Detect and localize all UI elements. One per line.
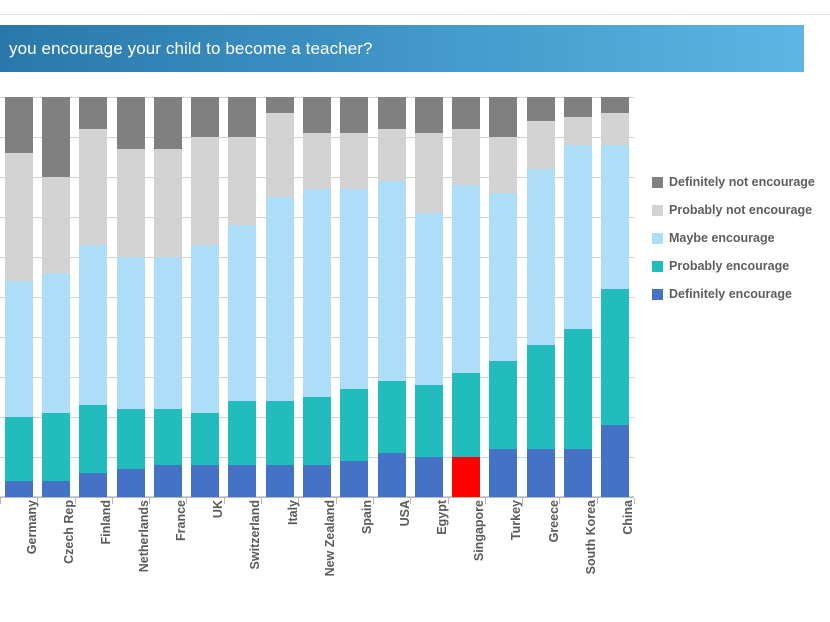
bar-segment [452, 185, 480, 373]
category-label-uk: UK [211, 500, 225, 518]
slide-canvas: you encourage your child to become a tea… [0, 0, 830, 622]
bar-segment [5, 153, 33, 281]
bar-netherlands[interactable] [117, 97, 145, 497]
bar-segment [42, 413, 70, 481]
bar-segment [117, 257, 145, 409]
bar-segment [5, 481, 33, 497]
bar-segment [601, 425, 629, 497]
bar-south-korea[interactable] [564, 97, 592, 497]
bar-switzerland[interactable] [228, 97, 256, 497]
bar-segment [340, 133, 368, 189]
category-label-singapore: Singapore [472, 500, 486, 561]
category-label-spain: Spain [360, 500, 374, 534]
bar-segment [564, 97, 592, 117]
legend-item-label: Definitely not encourage [669, 175, 815, 189]
category-label-greece: Greece [547, 500, 561, 542]
category-label-switzerland: Switzerland [248, 500, 262, 569]
bar-segment [228, 225, 256, 401]
chart-legend: Definitely not encourageProbably not enc… [652, 170, 830, 310]
bar-segment [527, 449, 555, 497]
bar-segment [79, 129, 107, 245]
legend-item-label: Definitely encourage [669, 287, 792, 301]
bar-segment [601, 97, 629, 113]
bar-segment [228, 465, 256, 497]
category-label-south-korea: South Korea [584, 500, 598, 574]
bar-segment [415, 457, 443, 497]
bar-segment [154, 97, 182, 149]
legend-item-label: Probably not encourage [669, 203, 812, 217]
bar-segment [415, 385, 443, 457]
bar-segment [79, 245, 107, 405]
bar-segment [527, 345, 555, 449]
bar-segment [452, 129, 480, 185]
bar-segment [117, 469, 145, 497]
bar-segment [378, 453, 406, 497]
bar-usa[interactable] [378, 97, 406, 497]
bar-segment [5, 97, 33, 153]
chart-container: GermanyCzech RepFinlandNetherlandsFrance… [0, 82, 830, 622]
bar-segment [154, 257, 182, 409]
bar-segment [527, 97, 555, 121]
legend-item[interactable]: Probably encourage [652, 254, 830, 278]
plot-area [0, 97, 634, 497]
bar-segment [191, 413, 219, 465]
bar-segment [266, 113, 294, 197]
bar-segment [191, 137, 219, 245]
bar-uk[interactable] [191, 97, 219, 497]
bar-segment [228, 401, 256, 465]
bar-segment [42, 481, 70, 497]
top-divider [0, 0, 830, 15]
legend-swatch-icon [652, 289, 663, 300]
bar-segment [527, 169, 555, 345]
bar-singapore[interactable] [452, 97, 480, 497]
bar-segment [303, 133, 331, 189]
bar-segment [415, 213, 443, 385]
legend-swatch-icon [652, 261, 663, 272]
bar-new-zealand[interactable] [303, 97, 331, 497]
bar-finland[interactable] [79, 97, 107, 497]
legend-item[interactable]: Definitely not encourage [652, 170, 830, 194]
bar-segment [601, 145, 629, 289]
bar-france[interactable] [154, 97, 182, 497]
legend-item[interactable]: Probably not encourage [652, 198, 830, 222]
bar-segment [79, 405, 107, 473]
bar-segment [117, 149, 145, 257]
category-label-egypt: Egypt [435, 500, 449, 535]
bar-segment [489, 449, 517, 497]
bar-segment [191, 97, 219, 137]
bar-segment [266, 197, 294, 401]
bar-segment [303, 189, 331, 397]
title-banner: you encourage your child to become a tea… [0, 25, 804, 72]
category-label-czech-rep: Czech Rep [62, 500, 76, 564]
category-label-france: France [174, 500, 188, 541]
bar-segment [452, 97, 480, 129]
bar-segment [340, 461, 368, 497]
bar-segment [154, 149, 182, 257]
bar-segment [378, 97, 406, 129]
bar-turkey[interactable] [489, 97, 517, 497]
bar-segment [489, 361, 517, 449]
bar-segment [266, 97, 294, 113]
bar-series-group [0, 97, 634, 497]
bar-segment [303, 397, 331, 465]
legend-item-label: Maybe encourage [669, 231, 775, 245]
bar-segment [452, 457, 480, 497]
bar-segment [340, 97, 368, 133]
bar-segment [79, 97, 107, 129]
bar-segment [564, 117, 592, 145]
bar-segment [601, 289, 629, 425]
bar-segment [489, 137, 517, 193]
bar-spain[interactable] [340, 97, 368, 497]
bar-greece[interactable] [527, 97, 555, 497]
bar-segment [415, 97, 443, 133]
bar-segment [42, 97, 70, 177]
bar-segment [340, 389, 368, 461]
bar-segment [489, 193, 517, 361]
bar-segment [117, 409, 145, 469]
bar-egypt[interactable] [415, 97, 443, 497]
bar-segment [266, 401, 294, 465]
bar-china[interactable] [601, 97, 629, 497]
legend-swatch-icon [652, 233, 663, 244]
legend-item-label: Probably encourage [669, 259, 789, 273]
category-label-netherlands: Netherlands [137, 500, 151, 572]
bar-segment [527, 121, 555, 169]
bar-segment [5, 417, 33, 481]
bar-segment [564, 145, 592, 329]
bar-czech-rep[interactable] [42, 97, 70, 497]
page-title: you encourage your child to become a tea… [0, 39, 373, 59]
bar-segment [5, 281, 33, 417]
bar-segment [378, 129, 406, 181]
x-axis-category-labels: GermanyCzech RepFinlandNetherlandsFrance… [0, 500, 634, 620]
bar-segment [117, 97, 145, 149]
bar-segment [378, 381, 406, 453]
bar-segment [378, 181, 406, 381]
bar-segment [191, 465, 219, 497]
bar-germany[interactable] [5, 97, 33, 497]
bar-segment [303, 97, 331, 133]
bar-segment [154, 409, 182, 465]
category-label-germany: Germany [25, 500, 39, 554]
bar-segment [228, 97, 256, 137]
category-label-italy: Italy [286, 500, 300, 525]
category-label-usa: USA [398, 500, 412, 526]
legend-item[interactable]: Definitely encourage [652, 282, 830, 306]
category-label-turkey: Turkey [509, 500, 523, 540]
legend-swatch-icon [652, 205, 663, 216]
bar-segment [42, 177, 70, 273]
bar-segment [340, 189, 368, 389]
bar-italy[interactable] [266, 97, 294, 497]
bar-segment [266, 465, 294, 497]
bar-segment [154, 465, 182, 497]
bar-segment [601, 113, 629, 145]
bar-segment [228, 137, 256, 225]
category-label-finland: Finland [99, 500, 113, 544]
bar-segment [564, 329, 592, 449]
bar-segment [191, 245, 219, 413]
category-label-new-zealand: New Zealand [323, 500, 337, 576]
legend-swatch-icon [652, 177, 663, 188]
bar-segment [452, 373, 480, 457]
legend-item[interactable]: Maybe encourage [652, 226, 830, 250]
bar-segment [564, 449, 592, 497]
bar-segment [303, 465, 331, 497]
bar-segment [415, 133, 443, 213]
bar-segment [489, 97, 517, 137]
bar-segment [42, 273, 70, 413]
bar-segment [79, 473, 107, 497]
category-label-china: China [621, 500, 635, 535]
